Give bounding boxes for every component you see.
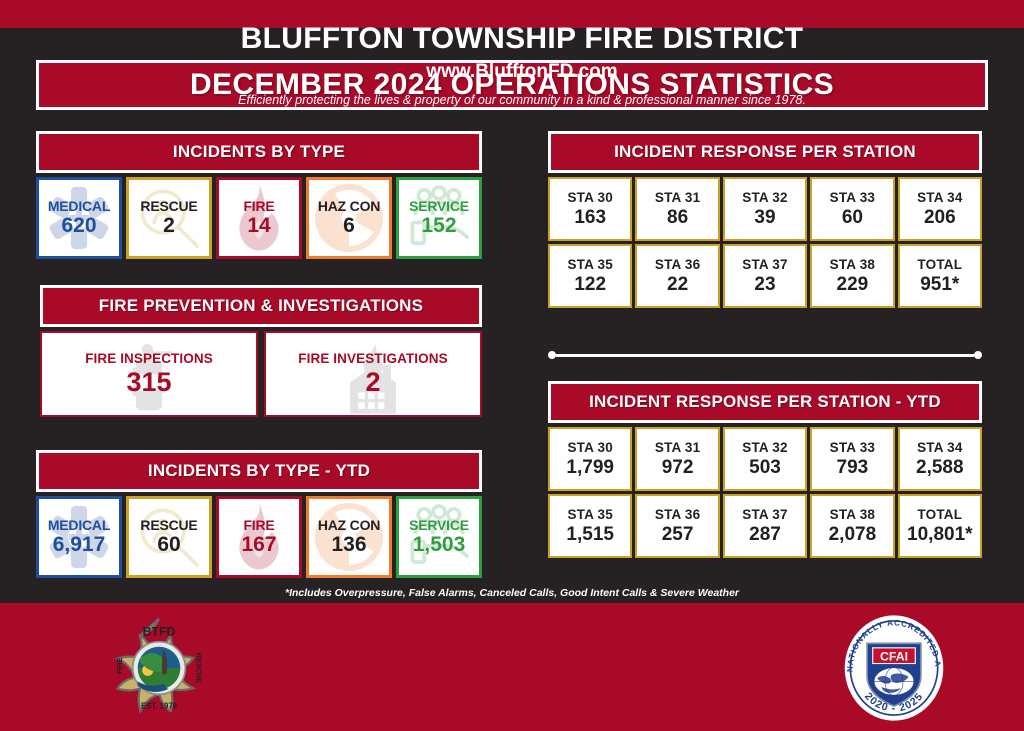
organization-tagline: Efficiently protecting the lives & prope… xyxy=(238,93,806,107)
incidents-by-type-ytd-panel: INCIDENTS BY TYPE - YTD MEDICAL 6,917 xyxy=(36,450,482,578)
incidents-by-type-ytd-cards: MEDICAL 6,917 RESCUE 60 FIRE 167 xyxy=(36,496,482,578)
fire-prevention-header: FIRE PREVENTION & INVESTIGATIONS xyxy=(40,285,482,327)
station-label: STA 35 xyxy=(567,507,612,522)
station-cell[interactable]: STA 301,799 xyxy=(548,427,632,491)
station-cell[interactable]: STA 3360 xyxy=(810,177,894,241)
station-value: 229 xyxy=(837,274,869,296)
fire-investigations-card[interactable]: FIRE INVESTIGATIONS 2 xyxy=(264,331,482,417)
station-label: STA 36 xyxy=(655,257,700,272)
incident-card-value: 620 xyxy=(61,214,96,237)
station-value: 793 xyxy=(837,457,869,479)
incident-ytd-card-fire[interactable]: FIRE 167 xyxy=(216,496,302,578)
station-label: STA 30 xyxy=(567,190,612,205)
station-value: 2,078 xyxy=(829,524,877,546)
station-value: 122 xyxy=(574,274,606,296)
station-value: 10,801* xyxy=(907,524,973,546)
cfai-shield-text: CFAI xyxy=(880,650,908,664)
station-cell[interactable]: STA 38229 xyxy=(810,244,894,308)
incident-card-service[interactable]: SERVICE 152 xyxy=(396,177,482,259)
station-label: STA 33 xyxy=(830,440,875,455)
station-value: 60 xyxy=(842,207,863,229)
station-value: 1,799 xyxy=(566,457,614,479)
response-per-station-ytd-grid: STA 301,799 STA 31972 STA 32503 STA 3379… xyxy=(548,427,982,558)
incidents-by-type-panel: INCIDENTS BY TYPE MEDICAL 620 xyxy=(36,131,482,259)
station-cell[interactable]: STA 342,588 xyxy=(898,427,982,491)
station-value: 1,515 xyxy=(566,524,614,546)
incident-ytd-card-rescue[interactable]: RESCUE 60 xyxy=(126,496,212,578)
incident-card-value: 6,917 xyxy=(53,533,106,556)
station-cell[interactable]: STA 382,078 xyxy=(810,494,894,558)
response-per-station-grid: STA 30163 STA 3186 STA 3239 STA 3360 STA… xyxy=(548,177,982,308)
station-value: 287 xyxy=(749,524,781,546)
station-label: STA 38 xyxy=(830,257,875,272)
incident-ytd-card-hazcon[interactable]: HAZ CON 136 xyxy=(306,496,392,578)
station-cell[interactable]: STA 34206 xyxy=(898,177,982,241)
incident-card-value: 152 xyxy=(421,214,456,237)
fire-prevention-title: FIRE PREVENTION & INVESTIGATIONS xyxy=(99,296,423,316)
station-label: STA 38 xyxy=(830,507,875,522)
station-value: 257 xyxy=(662,524,694,546)
station-label: STA 36 xyxy=(655,507,700,522)
incidents-by-type-ytd-title: INCIDENTS BY TYPE - YTD xyxy=(148,461,370,481)
station-label: STA 34 xyxy=(917,190,962,205)
station-cell[interactable]: STA 3239 xyxy=(723,177,807,241)
fire-inspections-label: FIRE INSPECTIONS xyxy=(85,351,213,366)
response-per-station-ytd-panel: INCIDENT RESPONSE PER STATION - YTD STA … xyxy=(548,381,982,558)
incident-ytd-card-medical[interactable]: MEDICAL 6,917 xyxy=(36,496,122,578)
station-value: 206 xyxy=(924,207,956,229)
station-label: STA 32 xyxy=(742,190,787,205)
incidents-by-type-title: INCIDENTS BY TYPE xyxy=(173,142,345,162)
station-label: STA 31 xyxy=(655,440,700,455)
incident-card-label: MEDICAL xyxy=(48,518,110,533)
incident-card-value: 1,503 xyxy=(413,533,466,556)
incident-card-value: 14 xyxy=(247,214,270,237)
station-label: STA 30 xyxy=(567,440,612,455)
incident-ytd-card-service[interactable]: SERVICE 1,503 xyxy=(396,496,482,578)
station-label: STA 37 xyxy=(742,507,787,522)
incident-card-label: SERVICE xyxy=(409,199,469,214)
station-cell[interactable]: STA 37287 xyxy=(723,494,807,558)
divider-dot-right xyxy=(974,351,982,359)
station-total-cell[interactable]: TOTAL10,801* xyxy=(898,494,982,558)
incidents-by-type-ytd-header: INCIDENTS BY TYPE - YTD xyxy=(36,450,482,492)
station-label: STA 31 xyxy=(655,190,700,205)
station-total-cell[interactable]: TOTAL951* xyxy=(898,244,982,308)
fire-investigations-label: FIRE INVESTIGATIONS xyxy=(298,351,447,366)
btfd-badge-top-text: BTFD xyxy=(143,625,176,639)
incident-card-rescue[interactable]: RESCUE 2 xyxy=(126,177,212,259)
station-label: TOTAL xyxy=(917,257,962,272)
incident-card-value: 60 xyxy=(157,533,180,556)
footnote: *Includes Overpressure, False Alarms, Ca… xyxy=(0,587,1024,599)
incident-card-hazcon[interactable]: HAZ CON 6 xyxy=(306,177,392,259)
station-value: 951* xyxy=(920,274,959,296)
fire-investigations-value: 2 xyxy=(365,368,380,398)
incident-card-label: RESCUE xyxy=(140,518,197,533)
incident-card-label: RESCUE xyxy=(140,199,197,214)
incidents-by-type-cards: MEDICAL 620 RESCUE 2 FIRE 14 xyxy=(36,177,482,259)
incident-card-label: HAZ CON xyxy=(318,518,380,533)
response-per-station-ytd-header: INCIDENT RESPONSE PER STATION - YTD xyxy=(548,381,982,423)
btfd-badge-left-text: FIRE xyxy=(115,657,124,674)
btfd-badge-right-text: RESCUE xyxy=(195,653,204,683)
fire-inspections-card[interactable]: FIRE INSPECTIONS 315 xyxy=(40,331,258,417)
response-per-station-header: INCIDENT RESPONSE PER STATION xyxy=(548,131,982,173)
divider-rule xyxy=(556,354,974,357)
incident-card-label: MEDICAL xyxy=(48,199,110,214)
station-label: STA 35 xyxy=(567,257,612,272)
fire-inspections-value: 315 xyxy=(126,368,171,398)
station-cell[interactable]: STA 36257 xyxy=(635,494,719,558)
footer-text-block: BLUFFTON TOWNSHIP FIRE DISTRICT www.Bluf… xyxy=(212,0,832,128)
incident-card-value: 2 xyxy=(163,214,175,237)
organization-name: BLUFFTON TOWNSHIP FIRE DISTRICT xyxy=(241,22,804,56)
station-cell[interactable]: STA 3186 xyxy=(635,177,719,241)
station-value: 163 xyxy=(574,207,606,229)
fire-prevention-panel: FIRE PREVENTION & INVESTIGATIONS FIRE IN… xyxy=(40,285,482,417)
station-value: 972 xyxy=(662,457,694,479)
organization-website[interactable]: www.BlufftonFD.com xyxy=(426,61,617,83)
incident-card-label: FIRE xyxy=(243,518,274,533)
station-value: 23 xyxy=(754,274,775,296)
station-cell[interactable]: STA 31972 xyxy=(635,427,719,491)
station-label: STA 32 xyxy=(742,440,787,455)
station-cell[interactable]: STA 351,515 xyxy=(548,494,632,558)
station-cell[interactable]: STA 32503 xyxy=(723,427,807,491)
incident-card-label: HAZ CON xyxy=(318,199,380,214)
station-value: 2,588 xyxy=(916,457,964,479)
station-label: STA 33 xyxy=(830,190,875,205)
fire-prevention-cards: FIRE INSPECTIONS 315 FIRE INVESTIGATIONS… xyxy=(40,331,482,417)
incident-card-medical[interactable]: MEDICAL 620 xyxy=(36,177,122,259)
incident-card-fire[interactable]: FIRE 14 xyxy=(216,177,302,259)
station-cell[interactable]: STA 3723 xyxy=(723,244,807,308)
incident-card-value: 167 xyxy=(241,533,276,556)
incident-card-value: 6 xyxy=(343,214,355,237)
incident-card-value: 136 xyxy=(331,533,366,556)
divider-dot-left xyxy=(548,351,556,359)
station-cell[interactable]: STA 30163 xyxy=(548,177,632,241)
station-value: 22 xyxy=(667,274,688,296)
station-label: TOTAL xyxy=(917,507,962,522)
response-per-station-title: INCIDENT RESPONSE PER STATION xyxy=(614,142,916,162)
station-value: 39 xyxy=(754,207,775,229)
station-label: STA 37 xyxy=(742,257,787,272)
section-divider xyxy=(548,350,982,360)
btfd-maltese-cross-logo: BTFD FIRE RESCUE EST. 1978 xyxy=(103,612,215,724)
incident-card-label: FIRE xyxy=(243,199,274,214)
cfai-accreditation-badge: INTERNATIONALLY ACCREDITED AGENCY 2020 -… xyxy=(838,612,950,724)
station-label: STA 34 xyxy=(917,440,962,455)
response-per-station-ytd-title: INCIDENT RESPONSE PER STATION - YTD xyxy=(589,392,941,412)
btfd-badge-bottom-text: EST. 1978 xyxy=(141,701,178,710)
response-per-station-panel: INCIDENT RESPONSE PER STATION STA 30163 … xyxy=(548,131,982,308)
station-value: 503 xyxy=(749,457,781,479)
station-value: 86 xyxy=(667,207,688,229)
station-cell[interactable]: STA 35122 xyxy=(548,244,632,308)
station-cell[interactable]: STA 33793 xyxy=(810,427,894,491)
incidents-by-type-header: INCIDENTS BY TYPE xyxy=(36,131,482,173)
station-cell[interactable]: STA 3622 xyxy=(635,244,719,308)
incident-card-label: SERVICE xyxy=(409,518,469,533)
